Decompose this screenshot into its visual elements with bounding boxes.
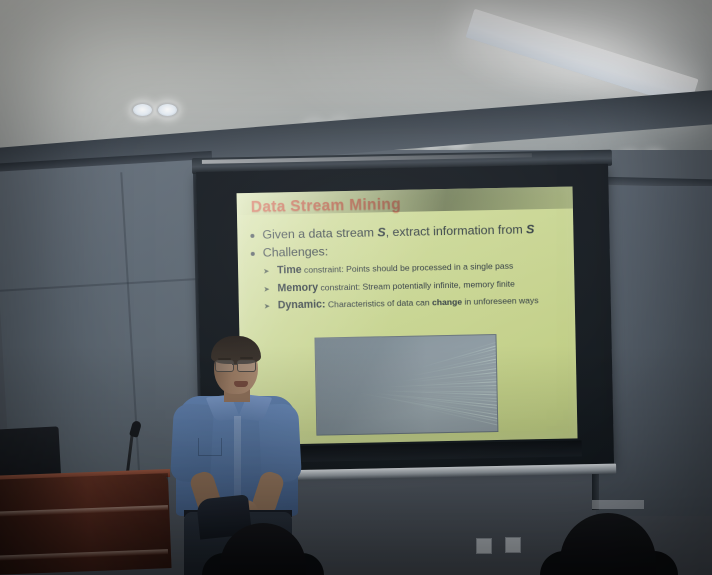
bullet-text-part: Given a data stream: [262, 225, 377, 241]
slide-title: Data Stream Mining: [251, 196, 401, 217]
bullet-italic-symbol: S: [526, 222, 535, 236]
wall-plate: [476, 538, 492, 554]
sub-bullet-keyword: Time: [277, 264, 302, 276]
sub-bullet-keyword: Memory: [277, 281, 318, 294]
lecture-hall-photo: Data Stream Mining Given a data stream S…: [0, 0, 712, 575]
presenter-mouth: [234, 381, 248, 387]
presenter-eyebrow: [240, 357, 253, 359]
downlight-pair-icon: [133, 104, 179, 117]
wall-plate: [505, 537, 521, 553]
slide-bullet-list: Given a data stream S, extract informati…: [249, 221, 567, 315]
sub-bullet-emphasis: change: [432, 297, 462, 308]
sub-bullet-detail: in unforeseen ways: [462, 295, 539, 307]
sub-bullet-label: constraint:: [302, 264, 347, 275]
bullet-text-part: Challenges:: [263, 244, 329, 259]
sub-bullet-detail: Stream potentially infinite, memory fini…: [362, 278, 515, 291]
figure-streaks: [315, 335, 497, 435]
sub-bullet-keyword: Dynamic:: [278, 298, 326, 311]
podium-shading: [0, 473, 172, 575]
right-panel-base: [592, 500, 644, 509]
sub-bullet-detail: Points should be processed in a single p…: [346, 261, 513, 274]
data-stream-visualization-figure: [314, 334, 498, 436]
presenter-shirt-pocket: [198, 438, 222, 456]
glasses-icon: [215, 360, 259, 371]
bullet-text-part: , extract information from: [386, 222, 527, 239]
sub-bullet-detail: Characteristics of data can: [328, 297, 432, 309]
sub-bullet-label: constraint:: [318, 281, 363, 292]
